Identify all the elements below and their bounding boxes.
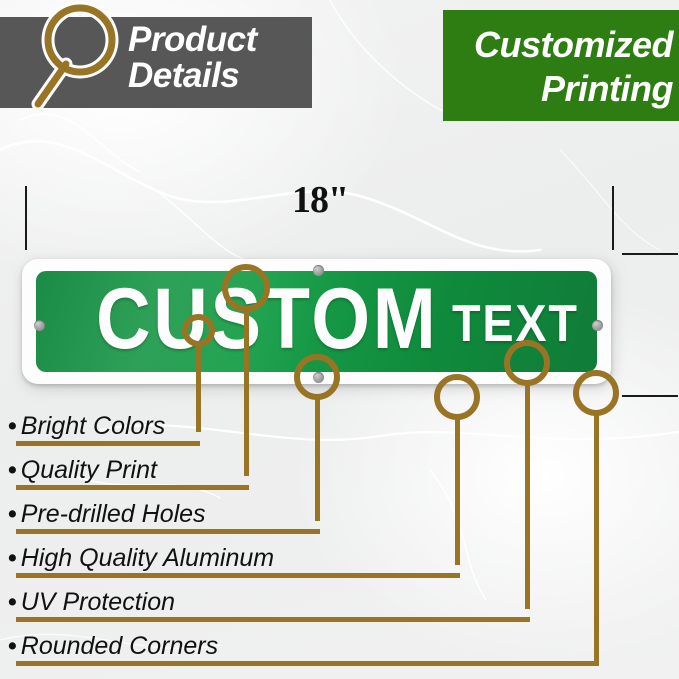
- leader-line-bright-colors: [196, 345, 201, 432]
- bullet-icon: •: [8, 500, 17, 528]
- feature-underline-predrilled-holes: [16, 529, 320, 534]
- feature-underline-bright-colors: [16, 441, 200, 446]
- callout-ring-quality-print: [222, 264, 270, 312]
- feature-label: UV Protection: [21, 588, 175, 616]
- badge-line-1: Product: [128, 22, 308, 58]
- infographic-canvas: Product Details Customized Printing 18" …: [0, 0, 679, 679]
- feature-label: High Quality Aluminum: [21, 544, 274, 572]
- predrilled-hole: [313, 265, 324, 276]
- feature-underline-rounded-corners: [16, 661, 599, 666]
- product-details-label: Product Details: [128, 22, 308, 94]
- leader-line-uv-protection: [525, 384, 530, 609]
- badge-line-2: Details: [128, 58, 308, 94]
- callout-ring-bright-colors: [182, 314, 215, 347]
- bullet-icon: •: [8, 588, 17, 616]
- predrilled-hole: [34, 320, 45, 331]
- feature-item-quality-print: •Quality Print: [8, 456, 157, 484]
- callout-ring-rounded-corners: [573, 370, 619, 416]
- predrilled-hole: [592, 320, 603, 331]
- leader-line-high-quality-aluminum: [455, 418, 460, 565]
- height-tick-bottom: [622, 395, 678, 397]
- bullet-icon: •: [8, 544, 17, 572]
- bullet-icon: •: [8, 456, 17, 484]
- callout-ring-high-quality-aluminum: [434, 374, 480, 420]
- width-tick-left: [25, 186, 27, 250]
- feature-underline-quality-print: [16, 485, 249, 490]
- bullet-icon: •: [8, 632, 17, 660]
- feature-underline-uv-protection: [16, 617, 530, 622]
- leader-line-predrilled-holes: [315, 398, 320, 521]
- feature-label: Pre-drilled Holes: [21, 500, 206, 528]
- feature-item-predrilled-holes: •Pre-drilled Holes: [8, 500, 206, 528]
- feature-underline-high-quality-aluminum: [16, 573, 460, 578]
- badge-line-1: Customized: [455, 23, 673, 67]
- feature-label: Bright Colors: [21, 412, 166, 440]
- customized-printing-label: Customized Printing: [455, 23, 679, 111]
- magnifier-icon: [10, 0, 130, 118]
- feature-item-high-quality-aluminum: •High Quality Aluminum: [8, 544, 274, 572]
- feature-item-uv-protection: •UV Protection: [8, 588, 175, 616]
- callout-ring-uv-protection: [504, 340, 550, 386]
- leader-line-rounded-corners: [594, 414, 599, 663]
- feature-label: Quality Print: [21, 456, 157, 484]
- width-dimension-label: 18": [255, 178, 385, 222]
- height-tick-top: [622, 253, 678, 255]
- width-tick-right: [612, 186, 614, 250]
- callout-ring-predrilled-holes: [294, 354, 340, 400]
- leader-line-quality-print: [244, 310, 249, 476]
- feature-item-bright-colors: •Bright Colors: [8, 412, 165, 440]
- badge-line-2: Printing: [455, 67, 673, 111]
- feature-item-rounded-corners: •Rounded Corners: [8, 632, 218, 660]
- bullet-icon: •: [8, 412, 17, 440]
- feature-label: Rounded Corners: [21, 632, 218, 660]
